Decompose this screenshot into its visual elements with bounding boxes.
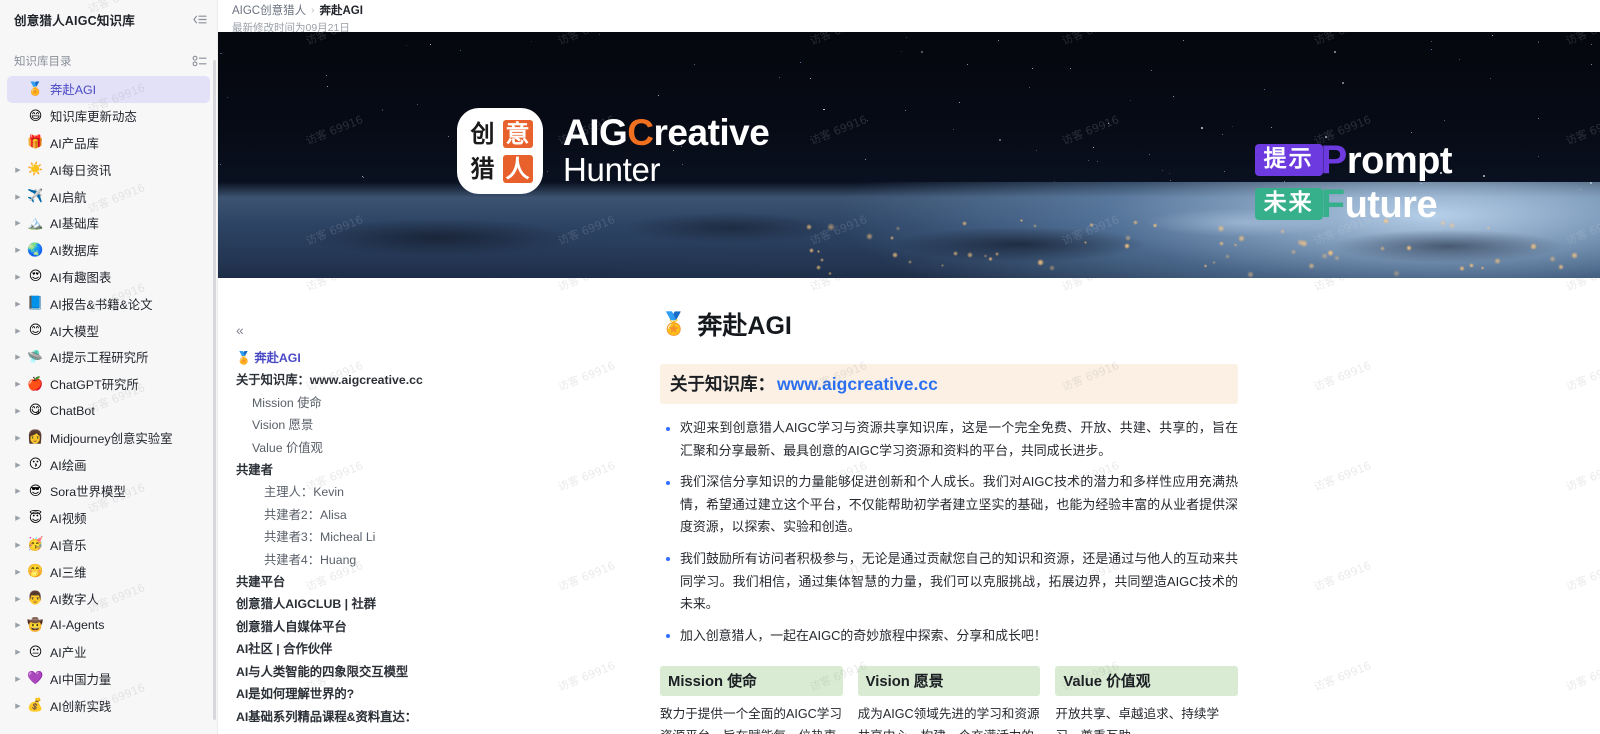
sidebar-item-label: Sora世界模型 — [50, 482, 126, 500]
sidebar-item-label: AI数字人 — [50, 590, 99, 608]
star — [1173, 96, 1174, 97]
toc-item-label: 奔赴AGI — [254, 351, 300, 365]
city-light — [1280, 229, 1285, 234]
star — [1170, 180, 1171, 181]
star — [810, 78, 811, 79]
toc-item-label: Value 价值观 — [252, 441, 323, 455]
mvv-card-body-2: 开放共享、卓越追求、持续学习、尊重互助。 — [1055, 703, 1238, 734]
star — [220, 164, 221, 165]
toc-item-6[interactable]: 主理人：Kevin — [236, 481, 626, 503]
star — [1029, 87, 1030, 88]
city-light — [828, 272, 831, 275]
star — [1201, 127, 1203, 129]
sidebar-item-22[interactable]: ▶💜AI中国力量 — [7, 666, 210, 693]
city-light — [984, 254, 987, 257]
star — [220, 53, 222, 55]
sidebar-item-17[interactable]: ▶🥳AI音乐 — [7, 532, 210, 559]
medal-icon: 🏅 — [660, 312, 687, 337]
star — [531, 41, 532, 42]
chevron-right-icon[interactable]: ▶ — [11, 190, 25, 204]
star — [1149, 154, 1150, 155]
city-light — [1393, 270, 1400, 277]
city-light — [1234, 243, 1238, 247]
sidebar-item-18[interactable]: ▶🤭AI三维 — [7, 558, 210, 585]
city-light — [967, 252, 972, 257]
watermark-text: 访客 69916 — [1563, 278, 1600, 295]
star — [1162, 170, 1163, 171]
toc-item-11[interactable]: 创意猎人AIGCLUB | 社群 — [236, 593, 626, 615]
sidebar-item-emoji-icon: 😗 — [26, 458, 45, 471]
sidebar-item-emoji-icon: ☀️ — [26, 163, 45, 176]
city-light — [1308, 263, 1315, 270]
chevron-right-icon[interactable]: ▶ — [11, 699, 25, 713]
city-light — [1571, 252, 1578, 259]
sidebar-item-label: AI产品库 — [50, 134, 99, 152]
star — [779, 77, 780, 78]
sidebar-item-23[interactable]: ▶💰AI创新实践 — [7, 692, 210, 719]
sidebar-item-13[interactable]: ▶👩Midjourney创意实验室 — [7, 424, 210, 451]
star — [1591, 44, 1592, 45]
brand-line-2: Hunter — [563, 152, 769, 188]
sidebar-item-4[interactable]: ▶✈️AI启航 — [7, 183, 210, 210]
promo-row-1: 未来Future — [1255, 184, 1452, 224]
sidebar-item-emoji-icon: 😎 — [26, 485, 45, 498]
sidebar-item-emoji-icon: 💜 — [26, 672, 45, 685]
city-light — [892, 252, 898, 258]
city-light — [1487, 226, 1490, 229]
watermark-text: 访客 69916 — [1563, 357, 1600, 394]
chevron-right-icon[interactable]: ▶ — [11, 458, 25, 472]
promo-block: 提示Prompt未来Future — [1255, 140, 1452, 224]
watermark-text: 访客 69916 — [1311, 657, 1373, 694]
sidebar-item-8[interactable]: ▶📘AI报告&书籍&论文 — [7, 290, 210, 317]
sidebar-item-label: AI创新实践 — [50, 697, 111, 715]
city-light — [1084, 241, 1087, 244]
city-light — [1406, 245, 1412, 251]
city-light — [1204, 264, 1208, 268]
chevron-right-icon[interactable]: ▶ — [11, 324, 25, 338]
mvv-card-1: Vision 愿景成为AIGC领域先进的学习和资源共享中心，构建一个充满活力的社… — [858, 666, 1041, 734]
city-light — [817, 250, 820, 253]
city-light — [1037, 259, 1044, 266]
star — [1591, 64, 1592, 65]
sidebar-item-label: 奔赴AGI — [50, 80, 96, 98]
city-light — [1212, 261, 1216, 265]
sidebar-item-emoji-icon: 🥳 — [26, 538, 45, 551]
toc-item-9[interactable]: 共建者4：Huang — [236, 549, 626, 571]
toc-item-12[interactable]: 创意猎人自媒体平台 — [236, 616, 626, 638]
toc-item-1[interactable]: 关于知识库：www.aigcreative.cc — [236, 369, 626, 391]
star — [1431, 49, 1432, 50]
promo-tag-1: 未来 — [1255, 188, 1323, 220]
city-light — [1247, 271, 1254, 278]
toc-item-label: 共建者2：Alisa — [264, 508, 347, 522]
intro-bullet-0: 欢迎来到创意猎人AIGC学习与资源共享知识库，这是一个完全免费、开放、共建、共享… — [660, 417, 1238, 462]
star — [599, 34, 600, 35]
page-title-text: 奔赴AGI — [697, 306, 791, 342]
mvv-card-heading-1: Vision 愿景 — [858, 666, 1041, 696]
star — [1411, 132, 1412, 133]
toc-item-label: 主理人：Kevin — [264, 485, 344, 499]
star — [901, 51, 902, 52]
watermark-text: 访客 69916 — [1563, 657, 1600, 694]
sidebar-item-label: AI每日资讯 — [50, 161, 111, 179]
star — [406, 45, 407, 46]
star — [953, 129, 954, 130]
main-area: AIGC创意猎人 › 奔赴AGI 最新修改时间为09月21日 创 意 猎 人 A… — [218, 0, 1600, 734]
watermark-text: 访客 69916 — [1311, 357, 1373, 394]
city-light — [988, 257, 993, 262]
toc-item-label: AI基础系列精品课程&资料直达： — [236, 710, 417, 724]
chevron-right-icon[interactable]: ▶ — [11, 618, 25, 632]
chevron-right-icon[interactable]: ▶ — [11, 404, 25, 418]
star — [1130, 100, 1131, 101]
toc-item-13[interactable]: AI社区 | 合作伙伴 — [236, 638, 626, 660]
sidebar-item-emoji-icon: 😋 — [26, 404, 45, 417]
star — [327, 86, 328, 87]
sidebar-item-emoji-icon: 🤭 — [26, 565, 45, 578]
brand-line-1: AIGCreative — [563, 113, 769, 152]
chevron-right-icon[interactable]: ▶ — [11, 243, 25, 257]
chevron-right-icon[interactable]: ▶ — [11, 672, 25, 686]
toc-item-0[interactable]: 🏅奔赴AGI — [236, 347, 626, 369]
promo-word-0: Prompt — [1321, 140, 1452, 180]
intro-bullet-1: 我们深信分享知识的力量能够促进创新和个人成长。我们对AIGC技术的潜力和多样性应… — [660, 471, 1238, 539]
sidebar-item-label: AI绘画 — [50, 456, 87, 474]
star — [448, 136, 449, 137]
city-light — [1049, 265, 1055, 271]
sidebar-item-emoji-icon: 👩 — [26, 431, 45, 444]
sidebar-item-19[interactable]: ▶👨AI数字人 — [7, 585, 210, 612]
mvv-card-0: Mission 使命致力于提供一个全面的AIGC学习资源平台，旨在赋能每一位热衷… — [660, 666, 843, 734]
toc-item-10[interactable]: 共建平台 — [236, 571, 626, 593]
toc-item-8[interactable]: 共建者3：Micheal Li — [236, 526, 626, 548]
star — [865, 159, 866, 160]
sidebar-item-emoji-icon: 😐 — [26, 646, 45, 659]
sidebar-item-label: AI报告&书籍&论文 — [50, 295, 153, 313]
city-light — [1380, 246, 1385, 251]
chevron-right-icon[interactable]: ▶ — [11, 377, 25, 391]
toc-item-2[interactable]: Mission 使命 — [236, 392, 626, 414]
chevron-right-icon[interactable]: ▶ — [11, 163, 25, 177]
star — [905, 110, 906, 111]
toc-item-7[interactable]: 共建者2：Alisa — [236, 504, 626, 526]
toc-item-4[interactable]: Value 价值观 — [236, 437, 626, 459]
sidebar-item-label: AI视频 — [50, 509, 87, 527]
toc-item-label: Mission 使命 — [252, 396, 322, 410]
double-chevron-left-icon[interactable]: « — [236, 322, 254, 338]
sidebar-item-14[interactable]: ▶😗AI绘画 — [7, 451, 210, 478]
star — [1032, 68, 1033, 69]
city-light — [1558, 264, 1564, 270]
toc-item-label: 关于知识库：www.aigcreative.cc — [236, 373, 423, 387]
sidebar-item-2[interactable]: ▶🎁AI产品库 — [7, 130, 210, 157]
mvv-card-heading-2: Value 价值观 — [1055, 666, 1238, 696]
toc-item-label: 创意猎人AIGCLUB | 社群 — [236, 597, 376, 611]
star — [382, 109, 384, 111]
sidebar-item-label: ChatBot — [50, 404, 95, 418]
star — [867, 120, 868, 121]
mvv-card-body-0: 致力于提供一个全面的AIGC学习资源平台，旨在赋能每一位热衷于AIGC的个体，通… — [660, 703, 843, 734]
brand-accent-letter: C — [627, 112, 653, 153]
star — [1070, 68, 1071, 69]
toc-item-16[interactable]: AI基础系列精品课程&资料直达： — [236, 706, 626, 728]
city-light — [908, 260, 912, 264]
sidebar-item-11[interactable]: ▶🍎ChatGPT研究所 — [7, 371, 210, 398]
breadcrumb-root[interactable]: AIGC创意猎人 — [232, 2, 306, 18]
sidebar-item-emoji-icon: ✈️ — [26, 190, 45, 203]
chevron-right-icon[interactable]: ▶ — [11, 645, 25, 659]
sidebar-header: 创意猎人AIGC知识库 — [0, 0, 217, 38]
star — [1444, 120, 1445, 121]
sidebar-item-label: AI音乐 — [50, 536, 87, 554]
star — [326, 75, 327, 76]
city-light — [1481, 266, 1485, 270]
star — [1093, 147, 1094, 148]
table-of-contents: « 🏅奔赴AGI关于知识库：www.aigcreative.ccMission … — [218, 278, 638, 734]
city-light — [1291, 249, 1296, 254]
sidebar-item-15[interactable]: ▶😎Sora世界模型 — [7, 478, 210, 505]
app-root: 创意猎人AIGC知识库 知识库目录 ▶🏅奔赴AGI▶😄知识库更新动态▶🎁AI产品… — [0, 0, 1600, 734]
toc-item-5[interactable]: 共建者 — [236, 459, 626, 481]
star — [1538, 41, 1540, 43]
sidebar-item-emoji-icon: 🌏 — [26, 244, 45, 257]
star — [1264, 89, 1265, 90]
city-light — [1530, 243, 1537, 250]
toc-medal-icon: 🏅 — [236, 351, 251, 365]
watermark-text: 访客 69916 — [1311, 457, 1373, 494]
chevron-right-icon[interactable]: ▶ — [11, 431, 25, 445]
star — [1169, 173, 1170, 174]
mvv-card-row: Mission 使命致力于提供一个全面的AIGC学习资源平台，旨在赋能每一位热衷… — [660, 666, 1238, 734]
toc-item-14[interactable]: AI与人类智能的四象限交互模型 — [236, 661, 626, 683]
star — [998, 40, 999, 41]
city-light — [1219, 241, 1224, 246]
chevron-right-icon[interactable]: ▶ — [11, 350, 25, 364]
watermark-text: 访客 69916 — [1311, 557, 1373, 594]
star — [1492, 35, 1493, 36]
city-light — [1238, 235, 1245, 242]
star — [1334, 51, 1336, 53]
city-light — [866, 233, 872, 239]
hero-banner: 创 意 猎 人 AIGCreative Hunter 提示Prompt未来Fut… — [218, 32, 1600, 278]
sidebar-item-label: AI-Agents — [50, 618, 104, 632]
star — [906, 37, 907, 38]
sidebar-item-label: AI数据库 — [50, 241, 99, 259]
star — [430, 44, 431, 45]
star — [1483, 175, 1485, 177]
city-light — [816, 265, 821, 270]
star — [1538, 156, 1539, 157]
sidebar-item-label: AI中国力量 — [50, 670, 111, 688]
page-title: 🏅 奔赴AGI — [660, 306, 1238, 342]
city-light — [1089, 223, 1094, 228]
sidebar-item-label: AI提示工程研究所 — [50, 348, 148, 366]
about-highlight-box: 关于知识库： www.aigcreative.cc — [660, 364, 1238, 404]
brand-wordmark: AIGCreative Hunter — [563, 113, 769, 189]
sidebar-item-emoji-icon: 🛸 — [26, 351, 45, 364]
sidebar-section-label: 知识库目录 — [14, 53, 183, 69]
star — [227, 97, 228, 98]
promo-tag-0: 提示 — [1255, 144, 1323, 176]
city-light — [1549, 256, 1555, 262]
toc-item-label: 共建者3：Micheal Li — [264, 530, 375, 544]
watermark-text: 访客 69916 — [1311, 278, 1373, 295]
city-light — [890, 236, 894, 240]
sidebar-item-1[interactable]: ▶😄知识库更新动态 — [7, 103, 210, 130]
logo-char-4: 人 — [503, 155, 533, 183]
city-light — [941, 264, 944, 267]
toc-item-label: AI是如何理解世界的? — [236, 687, 354, 701]
city-light — [1217, 225, 1224, 232]
city-light — [1020, 219, 1023, 222]
sidebar-item-label: 知识库更新动态 — [50, 107, 137, 125]
sidebar-item-12[interactable]: ▶😋ChatBot — [7, 398, 210, 425]
collapse-panel-icon[interactable] — [189, 9, 209, 29]
chevron-right-icon[interactable]: ▶ — [11, 511, 25, 525]
toc-item-15[interactable]: AI是如何理解世界的? — [236, 683, 626, 705]
city-light — [1469, 263, 1474, 268]
breadcrumb-current: 奔赴AGI — [319, 2, 362, 18]
city-light — [1153, 223, 1158, 228]
sidebar-item-21[interactable]: ▶😐AI产业 — [7, 639, 210, 666]
star — [694, 64, 695, 65]
toc-item-label: AI社区 | 合作伙伴 — [236, 642, 332, 656]
star — [460, 50, 461, 51]
sidebar-item-label: AI产业 — [50, 643, 87, 661]
brand-post: reative — [654, 112, 770, 153]
mvv-card-body-1: 成为AIGC领域先进的学习和资源共享中心，构建一个充满活力的社区，共同探索AI创… — [858, 703, 1041, 734]
chevron-right-icon[interactable]: ▶ — [11, 592, 25, 606]
city-light — [896, 226, 900, 230]
sidebar-item-emoji-icon: 🍎 — [26, 378, 45, 391]
sidebar-item-0[interactable]: ▶🏅奔赴AGI — [7, 76, 210, 103]
promo-row-0: 提示Prompt — [1255, 140, 1452, 180]
watermark-text: 访客 69916 — [1563, 557, 1600, 594]
sidebar-item-label: ChatGPT研究所 — [50, 375, 139, 393]
brand-logo-block: 创 意 猎 人 AIGCreative Hunter — [457, 108, 769, 194]
star — [658, 95, 659, 96]
brand-pre: AIG — [563, 112, 627, 153]
sidebar-item-emoji-icon: 💰 — [26, 699, 45, 712]
star — [999, 139, 1001, 141]
city-light — [1300, 240, 1307, 247]
toc-item-3[interactable]: Vision 愿景 — [236, 414, 626, 436]
sidebar: 创意猎人AIGC知识库 知识库目录 ▶🏅奔赴AGI▶😄知识库更新动态▶🎁AI产品… — [0, 0, 218, 734]
intro-bullet-list: 欢迎来到创意猎人AIGC学习与资源共享知识库，这是一个完全免费、开放、共建、共享… — [660, 417, 1238, 647]
sidebar-item-7[interactable]: ▶😍AI有趣图表 — [7, 264, 210, 291]
city-light — [1225, 254, 1230, 259]
intro-bullet-3: 加入创意猎人，一起在AIGC的奇妙旅程中探索、分享和成长吧！ — [660, 625, 1238, 648]
city-light — [809, 248, 814, 253]
breadcrumb-separator-icon: › — [311, 5, 314, 16]
city-light — [995, 252, 999, 256]
sidebar-item-6[interactable]: ▶🌏AI数据库 — [7, 237, 210, 264]
sidebar-item-label: AI基础库 — [50, 214, 99, 232]
sidebar-item-9[interactable]: ▶😊AI大模型 — [7, 317, 210, 344]
sidebar-item-emoji-icon: 😊 — [26, 324, 45, 337]
logo-char-2: 意 — [503, 120, 533, 148]
chevron-right-icon[interactable]: ▶ — [11, 297, 25, 311]
about-label: 关于知识库： — [670, 371, 775, 396]
content-body: « 🏅奔赴AGI关于知识库：www.aigcreative.ccMission … — [218, 278, 1600, 734]
chevron-right-icon[interactable]: ▶ — [11, 270, 25, 284]
toc-item-label: 共建平台 — [236, 575, 285, 589]
sidebar-item-list: ▶🏅奔赴AGI▶😄知识库更新动态▶🎁AI产品库▶☀️AI每日资讯▶✈️AI启航▶… — [0, 74, 217, 734]
sidebar-section-header: 知识库目录 — [0, 48, 217, 74]
star — [363, 177, 364, 178]
sidebar-item-3[interactable]: ▶☀️AI每日资讯 — [7, 156, 210, 183]
toc-item-label: 共建者4：Huang — [264, 553, 356, 567]
creative-hunter-logo-icon: 创 意 猎 人 — [457, 108, 543, 194]
star — [1097, 161, 1098, 162]
breadcrumb: AIGC创意猎人 › 奔赴AGI — [232, 3, 1600, 17]
article: 🏅 奔赴AGI 关于知识库： www.aigcreative.cc 欢迎来到创意… — [638, 278, 1278, 734]
star — [1036, 150, 1037, 151]
sidebar-item-emoji-icon: 🎁 — [26, 136, 45, 149]
chevron-right-icon[interactable]: ▶ — [11, 538, 25, 552]
sidebar-title: 创意猎人AIGC知识库 — [14, 10, 183, 29]
sidebar-item-16[interactable]: ▶😇AI视频 — [7, 505, 210, 532]
city-light — [1334, 255, 1340, 261]
sidebar-item-emoji-icon: 😇 — [26, 512, 45, 525]
star — [1232, 126, 1233, 127]
sidebar-item-10[interactable]: ▶🛸AI提示工程研究所 — [7, 344, 210, 371]
city-light — [1124, 243, 1130, 249]
city-light — [1459, 266, 1465, 272]
toc-item-label: Vision 愿景 — [252, 418, 313, 432]
chevron-right-icon[interactable]: ▶ — [11, 484, 25, 498]
chevron-right-icon[interactable]: ▶ — [11, 565, 25, 579]
city-light — [953, 251, 958, 256]
sidebar-item-emoji-icon: 🏅 — [26, 83, 45, 96]
sidebar-item-20[interactable]: ▶🤠AI-Agents — [7, 612, 210, 639]
city-light — [820, 258, 824, 262]
promo-word-cap-1: F — [1321, 182, 1345, 226]
star — [1490, 78, 1491, 79]
website-link[interactable]: www.aigcreative.cc — [777, 374, 938, 395]
toc-item-label: 共建者 — [236, 463, 273, 477]
watermark-text: 访客 69916 — [1563, 457, 1600, 494]
sidebar-item-5[interactable]: ▶🏔️AI基础库 — [7, 210, 210, 237]
city-light — [1133, 220, 1138, 225]
mvv-card-heading-0: Mission 使命 — [660, 666, 843, 696]
star — [1183, 40, 1184, 41]
star — [823, 109, 825, 111]
city-light — [1033, 224, 1037, 228]
sidebar-item-label: AI有趣图表 — [50, 268, 111, 286]
sidebar-item-emoji-icon: 🤠 — [26, 619, 45, 632]
star — [967, 64, 968, 65]
logo-char-3: 猎 — [471, 157, 495, 181]
logo-char-1: 创 — [471, 122, 495, 146]
star — [1224, 171, 1225, 172]
sidebar-scrollbar[interactable] — [213, 60, 216, 720]
sidebar-item-label: Midjourney创意实验室 — [50, 429, 173, 447]
sidebar-item-label: AI大模型 — [50, 322, 99, 340]
star — [1222, 134, 1223, 135]
chevron-right-icon[interactable]: ▶ — [11, 216, 25, 230]
star — [1271, 127, 1272, 128]
promo-word-1: Future — [1321, 184, 1437, 224]
toc-list: 🏅奔赴AGI关于知识库：www.aigcreative.ccMission 使命… — [236, 347, 626, 728]
city-light — [827, 223, 834, 230]
list-settings-icon[interactable] — [189, 51, 209, 71]
city-light — [1125, 235, 1131, 241]
sidebar-item-emoji-icon: 📘 — [26, 297, 45, 310]
star — [1088, 160, 1089, 161]
star — [1459, 59, 1460, 60]
